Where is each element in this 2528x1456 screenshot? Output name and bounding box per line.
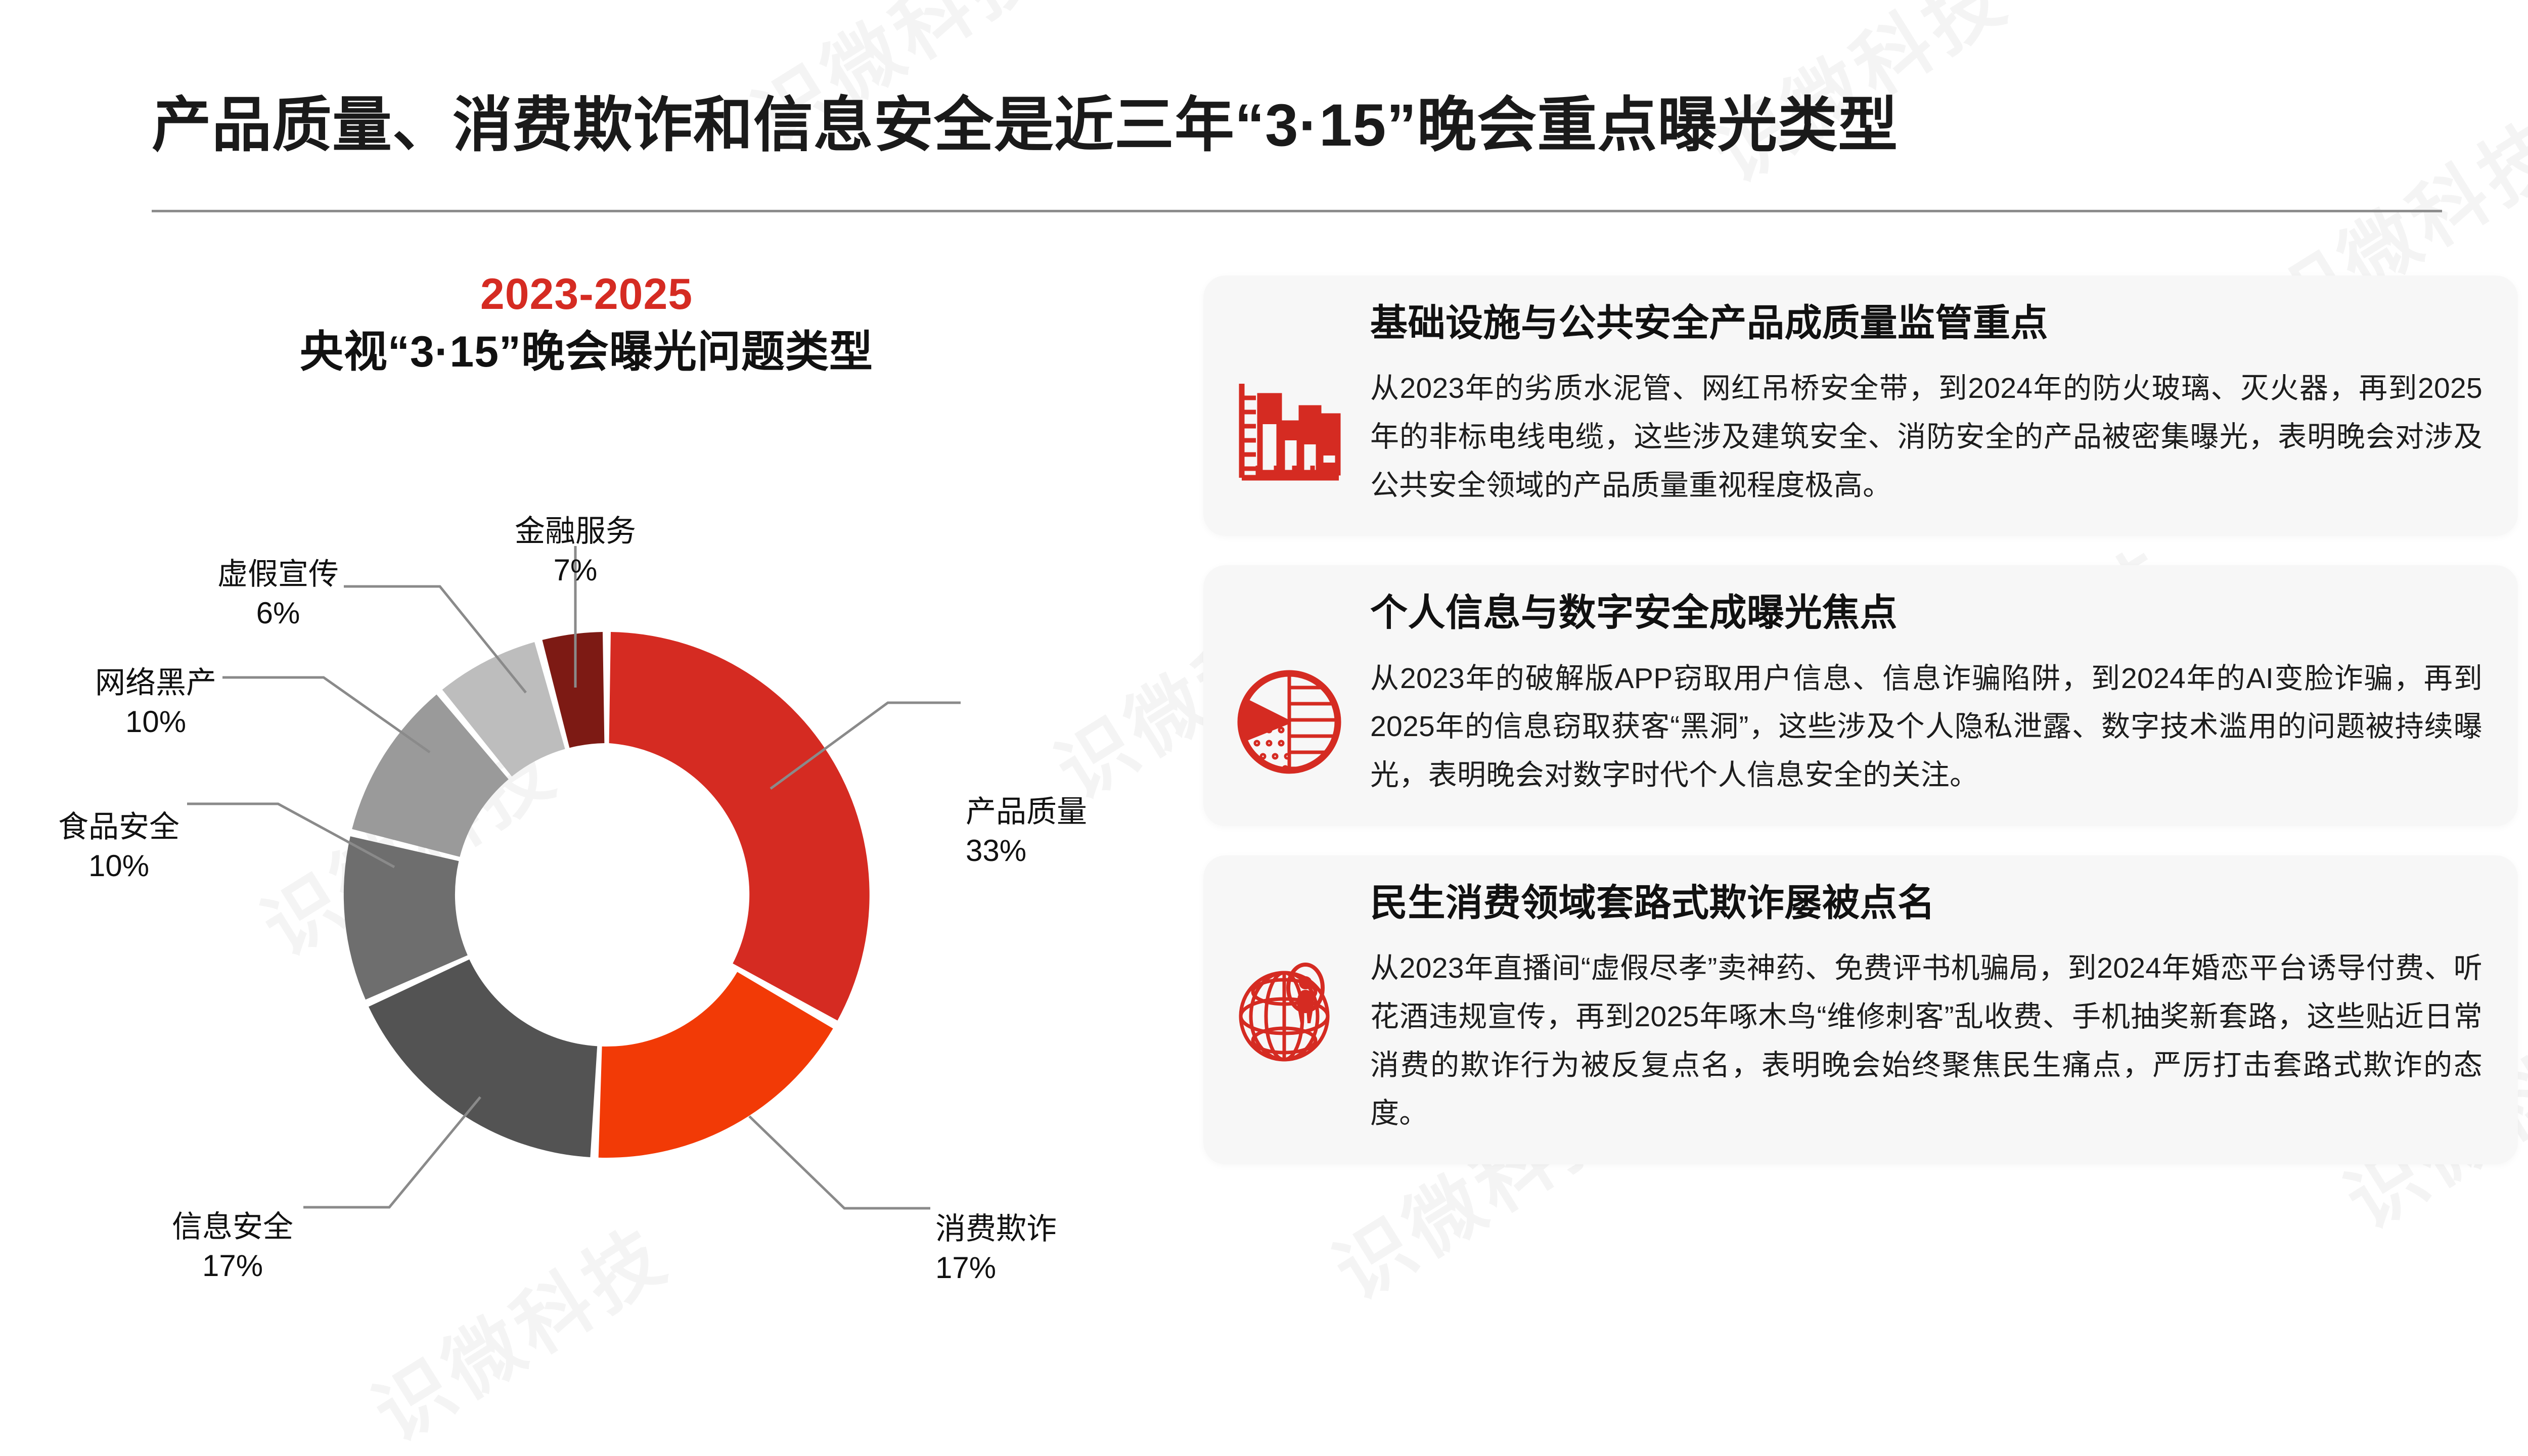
header-divider — [152, 210, 2442, 212]
donut-label-value: 17% — [172, 1247, 293, 1286]
insight-card-body: 从2023年直播间“虚假尽孝”卖神药、免费评书机骗局，到2024年婚恋平台诱导付… — [1370, 944, 2482, 1138]
insight-card-body: 从2023年的破解版APP窃取用户信息、信息诈骗陷阱，到2024年的AI变脸诈骗… — [1370, 655, 2482, 800]
globe-person-icon — [1234, 957, 1345, 1068]
donut-label-consumer-fraud: 消费欺诈 17% — [935, 1210, 1057, 1288]
insight-card-list: 基础设施与公共安全产品成质量监管重点 从2023年的劣质水泥管、网红吊桥安全带，… — [1203, 276, 2518, 1194]
insight-card[interactable]: 个人信息与数字安全成曝光焦点 从2023年的破解版APP窃取用户信息、信息诈骗陷… — [1203, 565, 2518, 826]
donut-label-name: 网络黑产 — [95, 666, 216, 700]
donut-label-value: 17% — [935, 1249, 1057, 1288]
insight-card-title: 民生消费领域套路式欺诈屡被点名 — [1370, 879, 2482, 927]
donut-label-financial-services: 金融服务 7% — [515, 512, 636, 590]
chart-panel: 2023-2025 央视“3·15”晚会曝光问题类型 — [76, 268, 1138, 1380]
donut-label-name: 虚假宣传 — [217, 557, 339, 591]
donut-label-false-advertising: 虚假宣传 6% — [217, 555, 339, 633]
donut-segment-consumer-fraud[interactable] — [599, 972, 833, 1158]
page-title-rest: 是近三年“3·15”晚会重点曝光类型 — [994, 92, 1898, 159]
insight-card-body: 从2023年的劣质水泥管、网红吊桥安全带，到2024年的防火玻璃、灭火器，再到2… — [1370, 365, 2482, 510]
donut-label-value: 33% — [966, 832, 1087, 871]
donut-segment-information-security[interactable] — [369, 960, 597, 1157]
donut-label-name: 产品质量 — [966, 795, 1087, 829]
page-title: 产品质量、消费欺诈和信息安全是近三年“3·15”晚会重点曝光类型 — [152, 88, 2442, 163]
donut-label-information-security: 信息安全 17% — [172, 1208, 293, 1286]
pie-chart-icon — [1234, 666, 1345, 778]
chart-subtitle: 央视“3·15”晚会曝光问题类型 — [106, 324, 1067, 381]
donut-label-name: 消费欺诈 — [935, 1212, 1057, 1246]
leader-line-consumer-fraud — [749, 1116, 930, 1208]
insight-card[interactable]: 民生消费领域套路式欺诈屡被点名 从2023年直播间“虚假尽孝”卖神药、免费评书机… — [1203, 855, 2518, 1164]
donut-label-name: 信息安全 — [172, 1210, 293, 1244]
donut-label-value: 10% — [58, 847, 179, 886]
donut-chart: 产品质量 33% 消费欺诈 17% 信息安全 17% 食品安全 10% 网络黑产… — [76, 420, 1138, 1370]
page-header: 产品质量、消费欺诈和信息安全是近三年“3·15”晚会重点曝光类型 — [152, 88, 2442, 163]
bar-chart-icon — [1234, 377, 1345, 488]
insight-card-title: 个人信息与数字安全成曝光焦点 — [1370, 588, 2482, 637]
insight-card-title: 基础设施与公共安全产品成质量监管重点 — [1370, 299, 2482, 347]
donut-label-name: 金融服务 — [515, 514, 636, 548]
donut-label-name: 食品安全 — [58, 810, 179, 844]
donut-label-product-quality: 产品质量 33% — [966, 793, 1087, 871]
page-title-emphasis: 产品质量、消费欺诈和信息安全 — [152, 92, 994, 159]
leader-line-information-security — [303, 1097, 480, 1207]
donut-label-value: 6% — [217, 594, 339, 633]
donut-label-food-safety: 食品安全 10% — [58, 808, 179, 886]
donut-label-cyber-black-industry: 网络黑产 10% — [95, 664, 216, 742]
infographic-page: 产品质量、消费欺诈和信息安全是近三年“3·15”晚会重点曝光类型 2023-20… — [0, 0, 2528, 1456]
insight-card[interactable]: 基础设施与公共安全产品成质量监管重点 从2023年的劣质水泥管、网红吊桥安全带，… — [1203, 276, 2518, 536]
donut-label-value: 10% — [95, 703, 216, 742]
donut-segment-product-quality[interactable] — [609, 632, 870, 1021]
chart-header: 2023-2025 央视“3·15”晚会曝光问题类型 — [106, 268, 1067, 381]
chart-year-label: 2023-2025 — [106, 268, 1067, 321]
donut-label-value: 7% — [515, 551, 636, 590]
